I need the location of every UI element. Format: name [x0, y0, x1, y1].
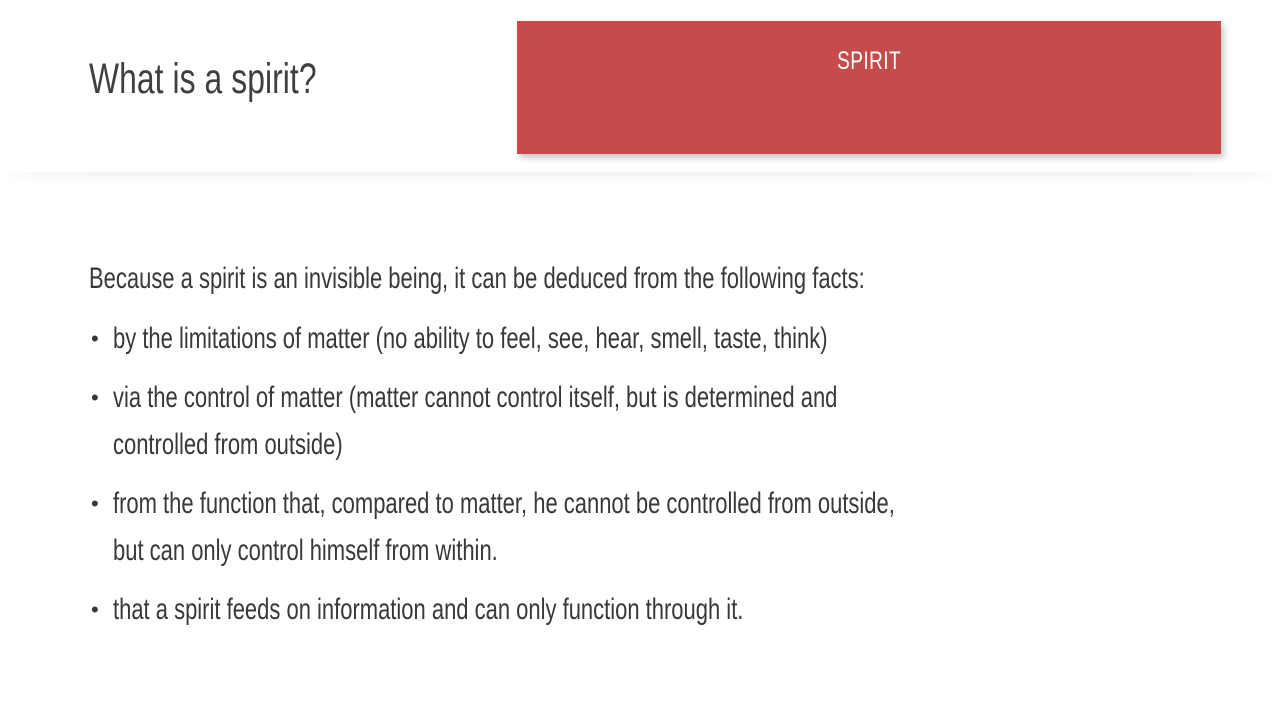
list-item: • from the function that, compared to ma…: [89, 489, 1269, 583]
intro-paragraph: Because a spirit is an invisible being, …: [89, 264, 1130, 294]
slide: What is a spirit? SPIRIT Because a spiri…: [0, 0, 1280, 720]
banner-label-text: SPIRIT: [837, 47, 901, 76]
list-item-line: by the limitations of matter (no ability…: [113, 324, 828, 354]
bullet-marker-icon: •: [91, 596, 99, 624]
spirit-banner: SPIRIT: [517, 21, 1221, 154]
intro-paragraph-text: Because a spirit is an invisible being, …: [89, 264, 865, 294]
list-item-line: from the function that, compared to matt…: [113, 489, 895, 519]
slide-body: Because a spirit is an invisible being, …: [0, 176, 1280, 720]
list-item: • via the control of matter (matter cann…: [89, 383, 1269, 477]
list-item-line: that a spirit feeds on information and c…: [113, 595, 743, 625]
bullet-marker-icon: •: [91, 384, 99, 412]
bullet-list: • by the limitations of matter (no abili…: [89, 324, 1269, 654]
list-item: • by the limitations of matter (no abili…: [89, 324, 1269, 371]
list-item-line: but can only control himself from within…: [113, 536, 498, 566]
list-item: • that a spirit feeds on information and…: [89, 595, 1269, 642]
page-title: What is a spirit?: [89, 58, 317, 101]
bullet-marker-icon: •: [91, 325, 99, 353]
list-item-line: via the control of matter (matter cannot…: [113, 383, 837, 413]
slide-header: What is a spirit? SPIRIT: [0, 0, 1280, 176]
banner-label: SPIRIT: [517, 47, 1221, 76]
list-item-line: controlled from outside): [113, 430, 343, 460]
bullet-marker-icon: •: [91, 490, 99, 518]
